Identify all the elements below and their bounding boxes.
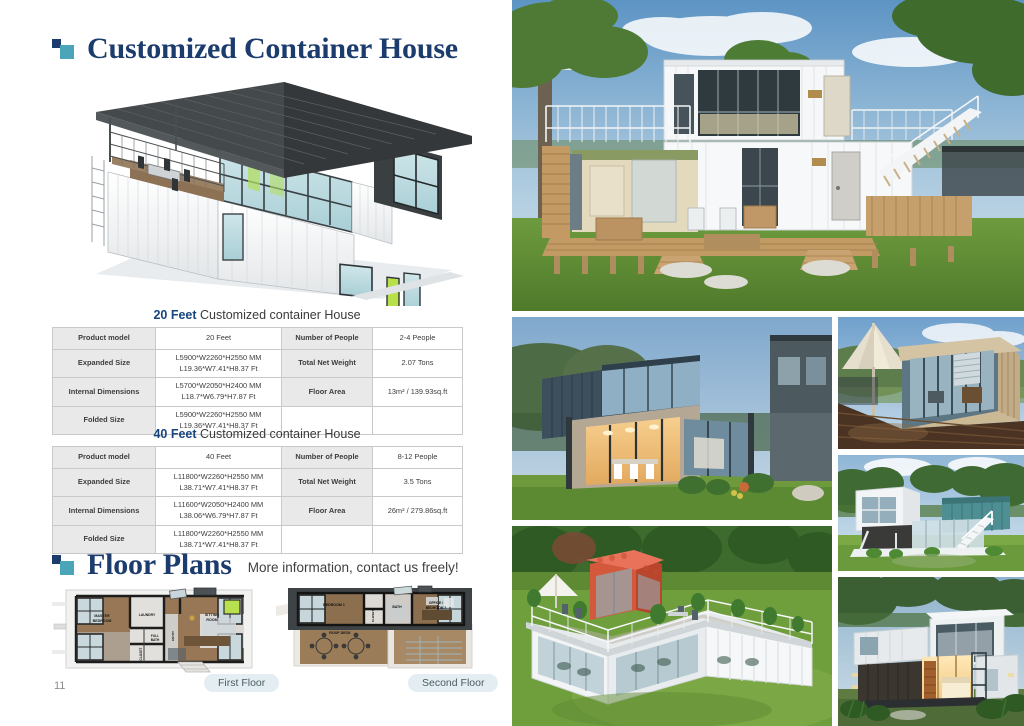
cell-label: Product model xyxy=(53,328,156,350)
svg-text:BATH: BATH xyxy=(392,605,402,609)
left-column: Customized Container House xyxy=(0,0,512,726)
cell-value: 3.5 Tons xyxy=(373,469,463,497)
cell-value: 2-4 People xyxy=(373,328,463,350)
floor-plan-second-caption: Second Floor xyxy=(408,674,498,692)
cell-label: Floor Area xyxy=(282,378,373,406)
cell-value: L11600*W2050*H2400 MM L38.06*W6.79*H7.87… xyxy=(156,497,282,525)
cell-value: L11800*W2260*H2550 MM L38.71*W7.41*H8.37… xyxy=(156,469,282,497)
value-line-1: L5900*W2260*H2550 MM xyxy=(158,353,279,364)
cell-value: L5700*W2050*H2400 MM L18.7*W6.79*H7.87 F… xyxy=(156,378,282,406)
floor-plan-first-caption: First Floor xyxy=(204,674,279,692)
caption-feet: 20 Feet xyxy=(153,308,196,322)
value-line-1: 20 Feet xyxy=(206,333,231,342)
spec-table-20ft: Product model 20 Feet Number of People 2… xyxy=(52,327,463,435)
svg-text:LAUNDRY: LAUNDRY xyxy=(139,613,156,617)
floor-plans-title: Floor Plans xyxy=(87,548,232,582)
floor-plan-row: MASTER BEDROOM LAUNDRY CLOSET FULL BATH … xyxy=(48,584,488,680)
svg-text:BATH: BATH xyxy=(151,638,160,642)
svg-text:CLOSET: CLOSET xyxy=(371,610,375,622)
two-squares-logo-icon xyxy=(52,37,78,61)
value-line-1: 40 Feet xyxy=(206,452,231,461)
table-row: Expanded Size L5900*W2260*H2550 MM L19.3… xyxy=(53,350,463,378)
cell-value: 20 Feet xyxy=(156,328,282,350)
caption-rest: Customized container House xyxy=(197,308,361,322)
spec-table-40ft-caption: 40 Feet Customized container House xyxy=(52,427,462,441)
svg-text:OFFICE /: OFFICE / xyxy=(429,601,443,605)
spec-table-40ft: Product model 40 Feet Number of People 8… xyxy=(52,446,463,554)
cell-label: Total Net Weight xyxy=(282,469,373,497)
table-row: Internal Dimensions L5700*W2050*H2400 MM… xyxy=(53,378,463,406)
svg-text:ENTRY: ENTRY xyxy=(171,631,175,641)
svg-text:ROOM: ROOM xyxy=(206,618,217,622)
cell-label: Number of People xyxy=(282,328,373,350)
floor-plan-first-image: MASTER BEDROOM LAUNDRY CLOSET FULL BATH … xyxy=(52,584,260,676)
svg-text:BEDROOM: BEDROOM xyxy=(93,619,112,623)
value-line-1: L5900*W2260*H2550 MM xyxy=(158,410,279,421)
beige-container-office-photo xyxy=(838,317,1024,449)
spec-table-20ft-block: 20 Feet Customized container House Produ… xyxy=(52,308,462,435)
value-line-1: L5700*W2050*H2400 MM xyxy=(158,381,279,392)
value-line-1: L11800*W2260*H2550 MM xyxy=(158,472,279,483)
cell-value: 40 Feet xyxy=(156,447,282,469)
svg-text:ROOF DECK: ROOF DECK xyxy=(329,631,351,635)
cell-value: 26m² / 279.86sq.ft xyxy=(373,497,463,525)
svg-text:CLOSET: CLOSET xyxy=(139,647,143,660)
value-line-2: L18.7*W6.79*H7.87 Ft xyxy=(158,392,279,403)
caption-rest: Customized container House xyxy=(197,427,361,441)
value-line-1: L11600*W2050*H2400 MM xyxy=(158,500,279,511)
cell-value: 8-12 People xyxy=(373,447,463,469)
cell-label: Floor Area xyxy=(282,497,373,525)
cell-value: 2.07 Tons xyxy=(373,350,463,378)
cell-label: Expanded Size xyxy=(53,469,156,497)
spec-table-20ft-caption: 20 Feet Customized container House xyxy=(52,308,462,322)
value-line-2: L19.36*W7.41*H8.37 Ft xyxy=(158,364,279,375)
page-title-block: Customized Container House xyxy=(52,32,458,66)
hero-container-house-photo xyxy=(512,0,1024,311)
floor-plan-second-image: BEDROOM 1 CLOSET BATH OFFICE / BEDROOM 2… xyxy=(276,584,484,676)
teal-container-house-photo xyxy=(838,455,1024,571)
value-line-2: L38.71*W7.41*H8.37 Ft xyxy=(158,483,279,494)
blue-container-house-photo xyxy=(512,317,832,520)
svg-text:BEDROOM 2: BEDROOM 2 xyxy=(426,606,447,610)
table-row: Product model 40 Feet Number of People 8… xyxy=(53,447,463,469)
cell-label: Internal Dimensions xyxy=(53,378,156,406)
cell-label: Internal Dimensions xyxy=(53,497,156,525)
value-line-1: L11800*W2260*H2550 MM xyxy=(158,529,279,540)
svg-text:BEDROOM 1: BEDROOM 1 xyxy=(323,603,345,607)
table-row: Internal Dimensions L11600*W2050*H2400 M… xyxy=(53,497,463,525)
cell-label: Total Net Weight xyxy=(282,350,373,378)
table-row: Product model 20 Feet Number of People 2… xyxy=(53,328,463,350)
svg-text:SITTING: SITTING xyxy=(205,613,219,617)
floor-plans-subtitle: More information, contact us freely! xyxy=(248,560,459,575)
cell-label: Product model xyxy=(53,447,156,469)
value-line-2: L38.06*W6.79*H7.87 Ft xyxy=(158,511,279,522)
page-title: Customized Container House xyxy=(87,32,458,66)
cell-value: 13m² / 139.93sq.ft xyxy=(373,378,463,406)
caption-feet: 40 Feet xyxy=(153,427,196,441)
spec-table-40ft-block: 40 Feet Customized container House Produ… xyxy=(52,427,462,554)
page-number: 11 xyxy=(54,680,65,692)
rooftop-deck-house-photo xyxy=(512,526,832,726)
svg-text:MASTER: MASTER xyxy=(94,614,110,618)
night-container-house-photo xyxy=(838,577,1024,726)
photo-gallery xyxy=(512,0,1024,726)
container-house-illustration xyxy=(52,74,492,306)
cell-label: Expanded Size xyxy=(53,350,156,378)
brochure-page: Customized Container House xyxy=(0,0,1024,726)
cell-label: Number of People xyxy=(282,447,373,469)
cell-value: L5900*W2260*H2550 MM L19.36*W7.41*H8.37 … xyxy=(156,350,282,378)
floor-plans-title-block: Floor Plans More information, contact us… xyxy=(52,548,459,582)
table-row: Expanded Size L11800*W2260*H2550 MM L38.… xyxy=(53,469,463,497)
two-squares-logo-icon xyxy=(52,553,78,577)
